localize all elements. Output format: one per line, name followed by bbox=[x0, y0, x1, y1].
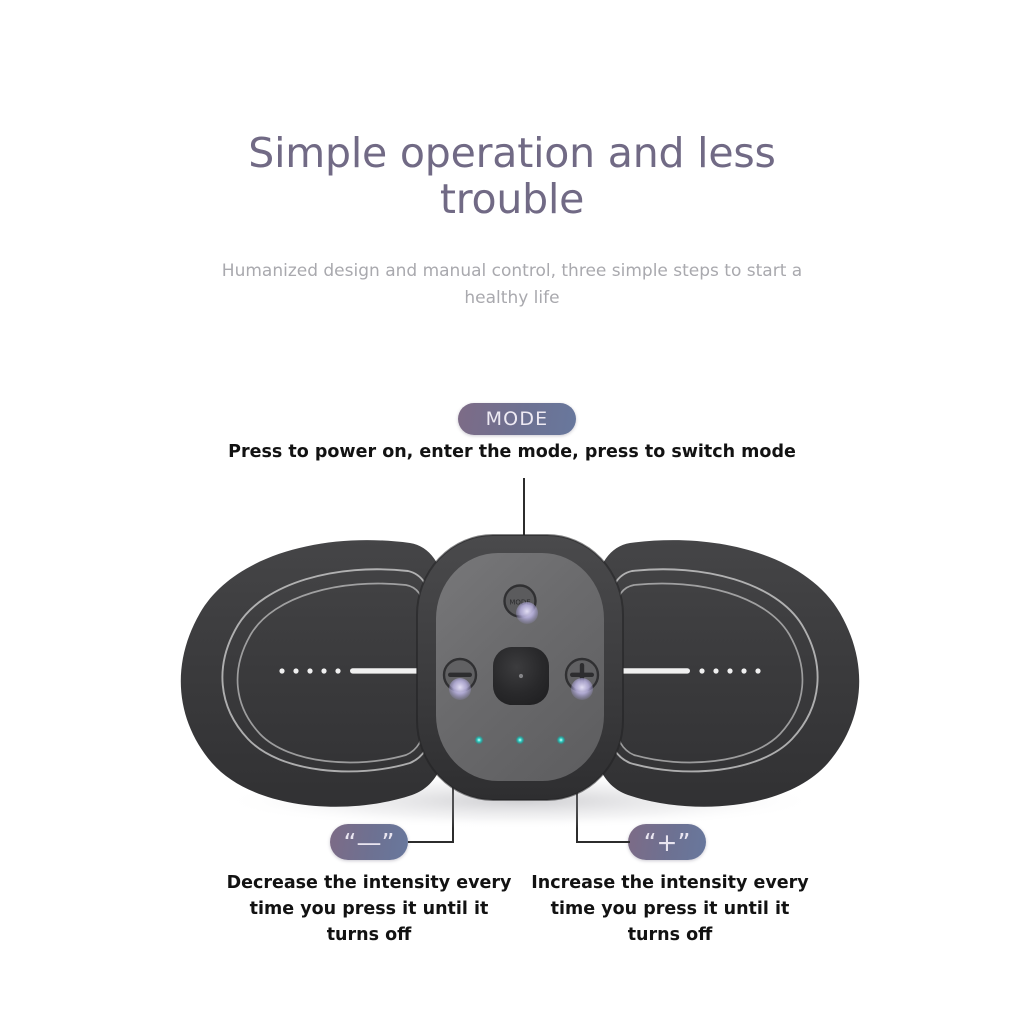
badge-mode[interactable]: MODE bbox=[458, 403, 576, 435]
instruction-increase: Increase the intensity every time you pr… bbox=[525, 870, 815, 948]
device-wing-left bbox=[181, 540, 448, 807]
page-title: Simple operation and less trouble bbox=[242, 130, 782, 222]
page-subtitle: Humanized design and manual control, thr… bbox=[212, 258, 812, 312]
device-center-emblem bbox=[493, 647, 549, 705]
instruction-mode: Press to power on, enter the mode, press… bbox=[0, 442, 1024, 462]
badge-mode-label: MODE bbox=[486, 408, 549, 430]
device-hub: MODE bbox=[417, 535, 623, 800]
header: Simple operation and less trouble Humani… bbox=[0, 130, 1024, 312]
instruction-decrease: Decrease the intensity every time you pr… bbox=[224, 870, 514, 948]
device-image: MODE bbox=[160, 495, 880, 845]
device-wing-right bbox=[592, 540, 859, 807]
infographic-page: Simple operation and less trouble Humani… bbox=[0, 0, 1024, 1024]
